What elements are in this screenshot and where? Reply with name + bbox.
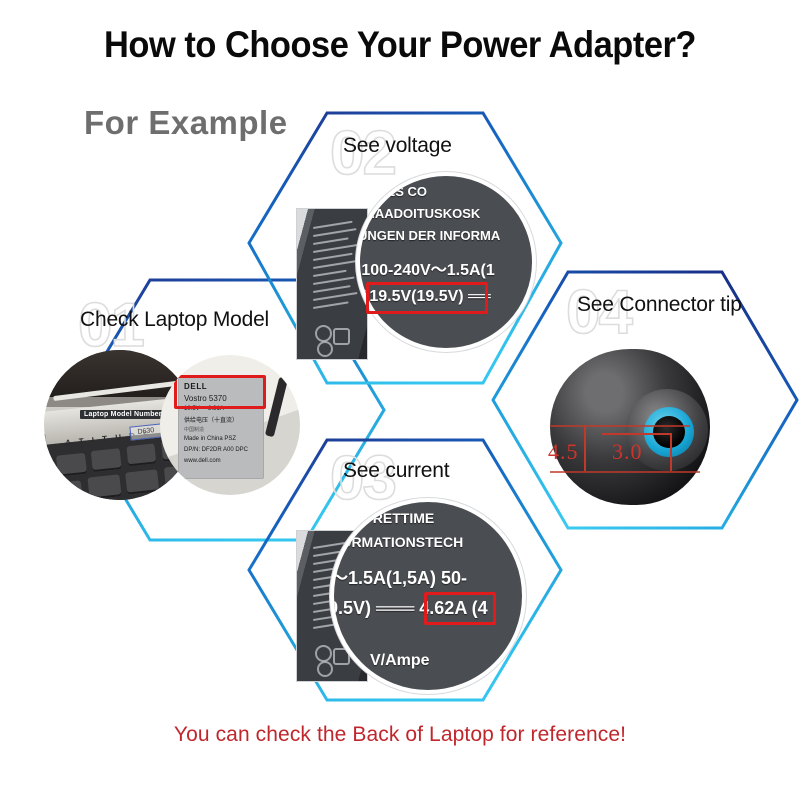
loupe-02-line-1: MAADOITUSKOSK (364, 206, 536, 221)
adapter-cable (265, 377, 288, 437)
footer-note: You can check the Back of Laptop for ref… (0, 723, 800, 747)
laptop-model-number-callout: Laptop Model Number (80, 410, 166, 419)
dimension-line-inner (602, 433, 672, 435)
magnifier-voltage: TES CO MAADOITUSKOSK UNGEN DER INFORMA :… (356, 172, 536, 352)
current-highlight-box (424, 592, 496, 625)
step-label-04: See Connector tip (577, 293, 742, 317)
loupe-03-line-0: RETTIME (370, 510, 526, 526)
dell-sticker-photo: DELL Vostro 5370 19.5V══2.31A 供给电压（十直流） … (160, 355, 300, 495)
adapter-certification-marks-02 (297, 209, 367, 359)
voltage-highlight-box (366, 282, 488, 314)
loupe-03-line-1: FORMATIONSTECH (332, 534, 520, 550)
sticker-highlight-box (174, 375, 266, 409)
sticker-line-7: www.dell.com (184, 458, 221, 464)
dimension-line-bottom (550, 471, 700, 473)
sticker-line-5: Made in China PSZ (184, 436, 236, 442)
adapter-label-photo-02 (296, 208, 368, 360)
loupe-02-line-3: :100-240V～1.5A(1 (356, 256, 528, 280)
loupe-03-line-4: V/Ampe (370, 652, 526, 670)
connector-tip-photo: 4.5 3.0 (540, 345, 730, 515)
sticker-line-3: 供给电压（十直流） (184, 415, 238, 424)
dimension-tick-outer (584, 427, 586, 471)
loupe-03-line-2: ～1.5A(1,5A) 50- (330, 564, 518, 590)
loupe-02-line-2: UNGEN DER INFORMA (358, 228, 530, 243)
step-label-03: See current (343, 459, 449, 483)
sticker-line-4: 中国制造 (184, 426, 204, 433)
infographic-canvas: How to Choose Your Power Adapter? For Ex… (0, 0, 800, 800)
dimension-inner-value: 3.0 (612, 439, 643, 465)
dimension-tick-inner (670, 433, 672, 471)
loupe-02-line-0: TES CO (376, 184, 536, 199)
sticker-line-6: DP/N: DF2DR A00 DPC (184, 447, 248, 453)
step-label-02: See voltage (343, 134, 452, 158)
connector-pin-hole (653, 416, 685, 448)
dimension-outer-value: 4.5 (548, 439, 579, 465)
dimension-line-top (550, 425, 690, 427)
step-label-01: Check Laptop Model (80, 308, 269, 332)
